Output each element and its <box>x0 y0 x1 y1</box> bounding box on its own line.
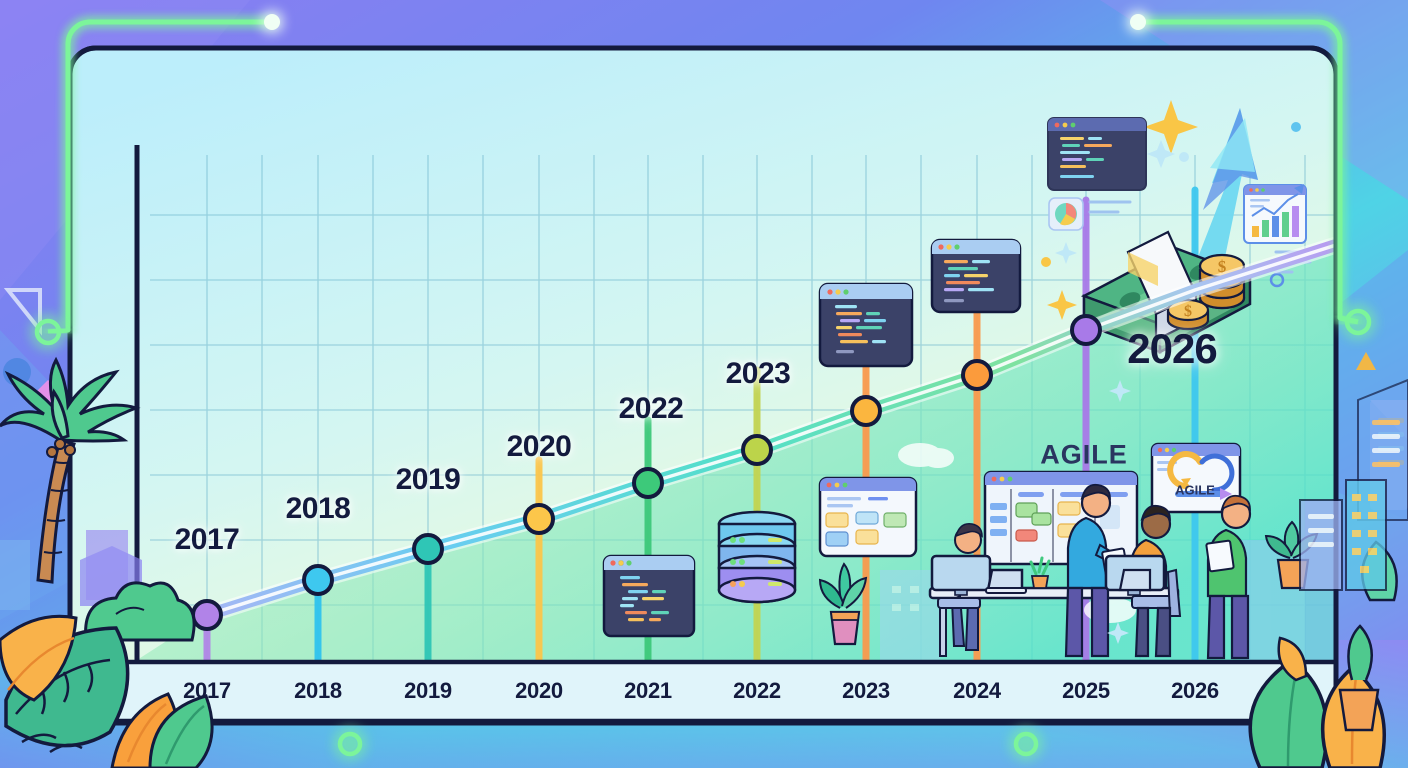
x-tick-2019: 2019 <box>404 678 452 704</box>
x-tick-2026: 2026 <box>1171 678 1219 704</box>
point-label-2022: 2022 <box>619 392 684 426</box>
timeline-infographic: $ $ <box>0 0 1408 768</box>
point-label-2017: 2017 <box>175 523 240 557</box>
x-tick-2025: 2025 <box>1062 678 1110 704</box>
x-tick-2020: 2020 <box>515 678 563 704</box>
point-label-2020: 2020 <box>507 430 572 464</box>
x-tick-2023: 2023 <box>842 678 890 704</box>
agile-cycle-label: AGILE <box>1175 483 1215 498</box>
x-tick-2018: 2018 <box>294 678 342 704</box>
x-tick-2024: 2024 <box>953 678 1001 704</box>
point-label-2018: 2018 <box>286 492 351 526</box>
text-layer: 2017 2018 2019 2020 2022 2023 2026 AGILE… <box>0 0 1408 768</box>
point-label-2026: 2026 <box>1127 325 1216 373</box>
x-tick-2022: 2022 <box>733 678 781 704</box>
point-label-2019: 2019 <box>396 463 461 497</box>
agile-banner-label: AGILE <box>1040 440 1128 471</box>
x-tick-2021: 2021 <box>624 678 672 704</box>
point-label-2023: 2023 <box>726 357 791 391</box>
x-tick-2017: 2017 <box>183 678 231 704</box>
